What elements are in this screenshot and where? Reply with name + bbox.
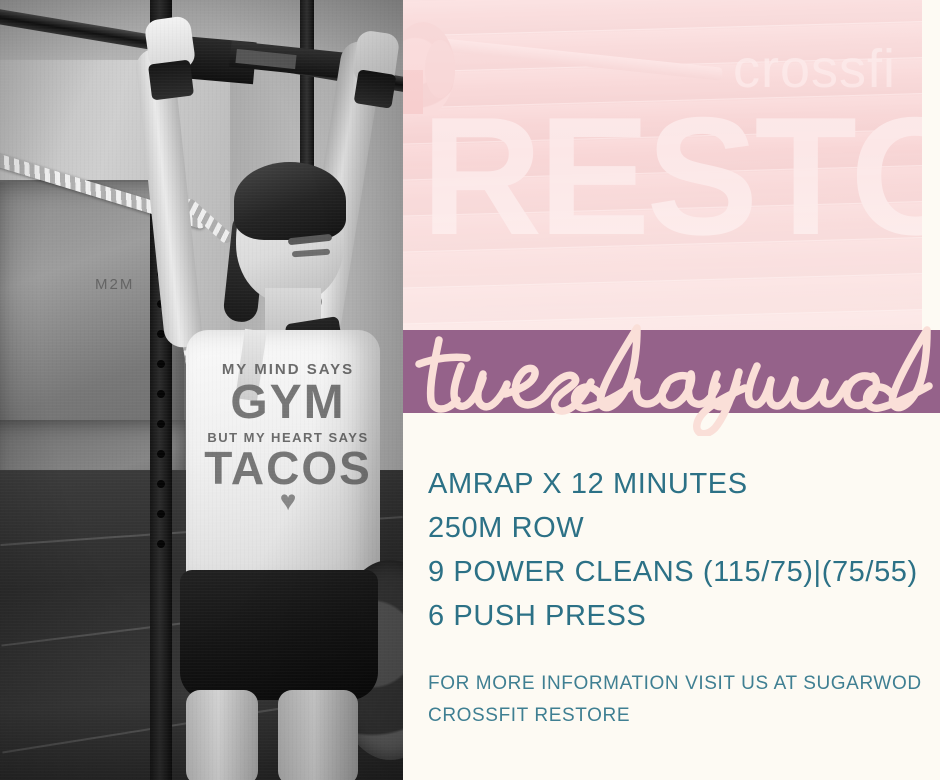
wod-line: 9 POWER CLEANS (115/75)|(75/55) [428,550,928,594]
footer-line: CROSSFIT RESTORE [428,700,928,732]
wod-line: 6 PUSH PRESS [428,594,928,638]
tank-line-2: GYM [196,379,380,427]
gym-sign-photo: RESTORE crossfi [403,0,922,330]
athlete-leg-left [186,690,258,780]
athlete-hair [234,162,346,240]
pink-gradient-overlay [403,0,922,330]
athlete-leg-right [278,690,358,780]
tank-top-graphic: MY MIND SAYS GYM BUT MY HEART SAYS TACOS… [196,362,380,515]
wod-line: 250M ROW [428,506,928,550]
athlete-shorts [180,570,378,700]
footer-text-block: FOR MORE INFORMATION VISIT US AT SUGARWO… [428,668,928,732]
wod-poster: M2M [0,0,940,780]
wod-line: AMRAP X 12 MINUTES [428,462,928,506]
footer-line: FOR MORE INFORMATION VISIT US AT SUGARWO… [428,668,928,700]
athlete-photo: M2M [0,0,403,780]
tank-line-1: MY MIND SAYS [196,362,380,377]
title-band [403,330,940,413]
wrist-wrap-left [148,60,194,101]
wod-text-block: AMRAP X 12 MINUTES 250M ROW 9 POWER CLEA… [428,462,928,638]
wrist-wrap-right [354,69,397,109]
right-cream-margin [922,0,940,330]
wall-mark-label: M2M [95,276,134,293]
